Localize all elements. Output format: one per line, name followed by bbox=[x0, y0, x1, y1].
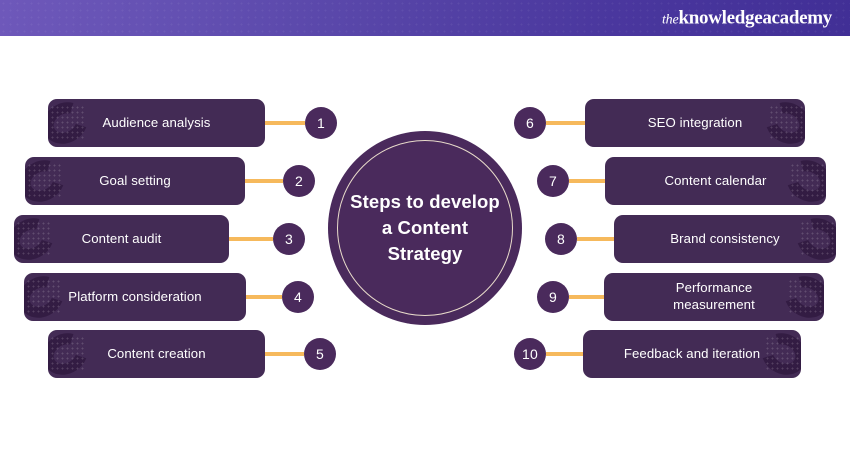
connector-line-7 bbox=[569, 179, 605, 182]
step-row-3: Content audit 3 bbox=[14, 215, 305, 263]
step-row-8: 8 Brand consistency bbox=[545, 215, 836, 263]
connector-line-1 bbox=[265, 121, 305, 124]
connector-line-4 bbox=[246, 295, 282, 298]
connector-line-2 bbox=[245, 179, 283, 182]
connector-line-8 bbox=[577, 237, 614, 240]
center-title: Steps to develop a Content Strategy bbox=[350, 189, 500, 268]
step-row-1: Audience analysis 1 bbox=[48, 99, 337, 147]
step-number-8[interactable]: 8 bbox=[545, 223, 577, 255]
step-row-7: 7 Content calendar bbox=[537, 157, 826, 205]
step-box-6[interactable]: SEO integration bbox=[585, 99, 805, 147]
step-box-5[interactable]: Content creation bbox=[48, 330, 265, 378]
decorative-arc-icon bbox=[24, 273, 71, 321]
step-box-8[interactable]: Brand consistency bbox=[614, 215, 836, 263]
connector-line-9 bbox=[569, 295, 604, 298]
step-label-10: Feedback and iteration bbox=[624, 346, 760, 363]
decorative-arc-icon bbox=[754, 330, 801, 378]
center-circle: Steps to develop a Content Strategy bbox=[328, 131, 522, 325]
step-number-2[interactable]: 2 bbox=[283, 165, 315, 197]
step-box-10[interactable]: Feedback and iteration bbox=[583, 330, 801, 378]
step-box-1[interactable]: Audience analysis bbox=[48, 99, 265, 147]
step-number-6[interactable]: 6 bbox=[514, 107, 546, 139]
step-box-2[interactable]: Goal setting bbox=[25, 157, 245, 205]
decorative-arc-icon bbox=[14, 215, 61, 263]
step-box-4[interactable]: Platform consideration bbox=[24, 273, 246, 321]
connector-line-10 bbox=[546, 352, 583, 355]
infographic-page: theknowledgeacademy Steps to develop a C… bbox=[0, 0, 850, 450]
step-number-7[interactable]: 7 bbox=[537, 165, 569, 197]
step-label-3: Content audit bbox=[82, 231, 162, 248]
step-label-6: SEO integration bbox=[648, 115, 743, 132]
step-number-1[interactable]: 1 bbox=[305, 107, 337, 139]
step-box-7[interactable]: Content calendar bbox=[605, 157, 826, 205]
step-number-5[interactable]: 5 bbox=[304, 338, 336, 370]
step-row-4: Platform consideration 4 bbox=[24, 273, 314, 321]
step-label-8: Brand consistency bbox=[670, 231, 779, 248]
decorative-arc-icon bbox=[777, 273, 824, 321]
step-label-5: Content creation bbox=[107, 346, 205, 363]
step-row-6: 6 SEO integration bbox=[514, 99, 805, 147]
step-row-2: Goal setting 2 bbox=[25, 157, 315, 205]
brand-logo: theknowledgeacademy bbox=[662, 9, 832, 28]
decorative-arc-icon bbox=[779, 157, 826, 205]
step-number-3[interactable]: 3 bbox=[273, 223, 305, 255]
step-number-10[interactable]: 10 bbox=[514, 338, 546, 370]
connector-line-6 bbox=[546, 121, 585, 124]
step-number-4[interactable]: 4 bbox=[282, 281, 314, 313]
decorative-arc-icon bbox=[48, 330, 95, 378]
connector-line-3 bbox=[229, 237, 273, 240]
header-bar: theknowledgeacademy bbox=[0, 0, 850, 36]
step-label-2: Goal setting bbox=[99, 173, 171, 190]
decorative-arc-icon bbox=[789, 215, 836, 263]
step-box-3[interactable]: Content audit bbox=[14, 215, 229, 263]
decorative-arc-icon bbox=[25, 157, 72, 205]
logo-main-text: knowledgeacademy bbox=[678, 8, 832, 29]
decorative-arc-icon bbox=[758, 99, 805, 147]
step-box-9[interactable]: Performance measurement bbox=[604, 273, 824, 321]
step-label-9: Performance measurement bbox=[673, 280, 755, 314]
step-label-4: Platform consideration bbox=[68, 289, 201, 306]
step-label-7: Content calendar bbox=[664, 173, 766, 190]
step-row-5: Content creation 5 bbox=[48, 330, 336, 378]
connector-line-5 bbox=[265, 352, 304, 355]
step-row-9: 9 Performance measurement bbox=[537, 273, 824, 321]
decorative-arc-icon bbox=[48, 99, 95, 147]
step-row-10: 10 Feedback and iteration bbox=[514, 330, 801, 378]
logo-the-text: the bbox=[662, 13, 679, 28]
step-label-1: Audience analysis bbox=[103, 115, 211, 132]
step-number-9[interactable]: 9 bbox=[537, 281, 569, 313]
